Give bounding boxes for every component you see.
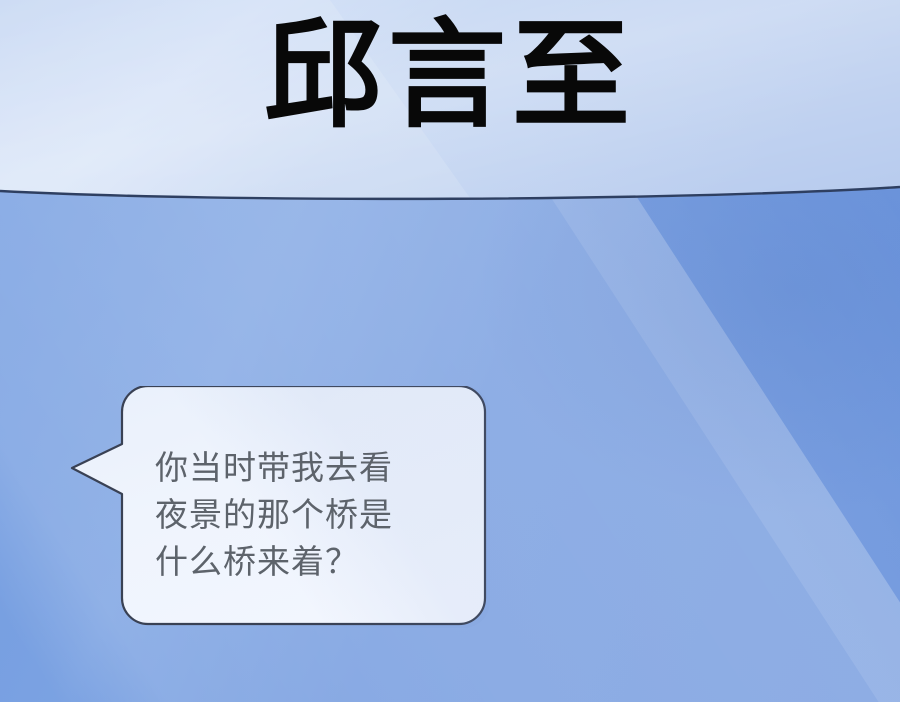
background-shadow-pocket — [470, 190, 900, 520]
comic-panel: 邱言至 你当时带我去看 夜景的那个桥是 什么桥来着？ — [0, 0, 900, 702]
speech-bubble-text: 你当时带我去看 夜景的那个桥是 什么桥来着？ — [155, 444, 455, 585]
speech-bubble: 你当时带我去看 夜景的那个桥是 什么桥来着？ — [70, 386, 490, 628]
page-title: 邱言至 — [0, 16, 900, 134]
